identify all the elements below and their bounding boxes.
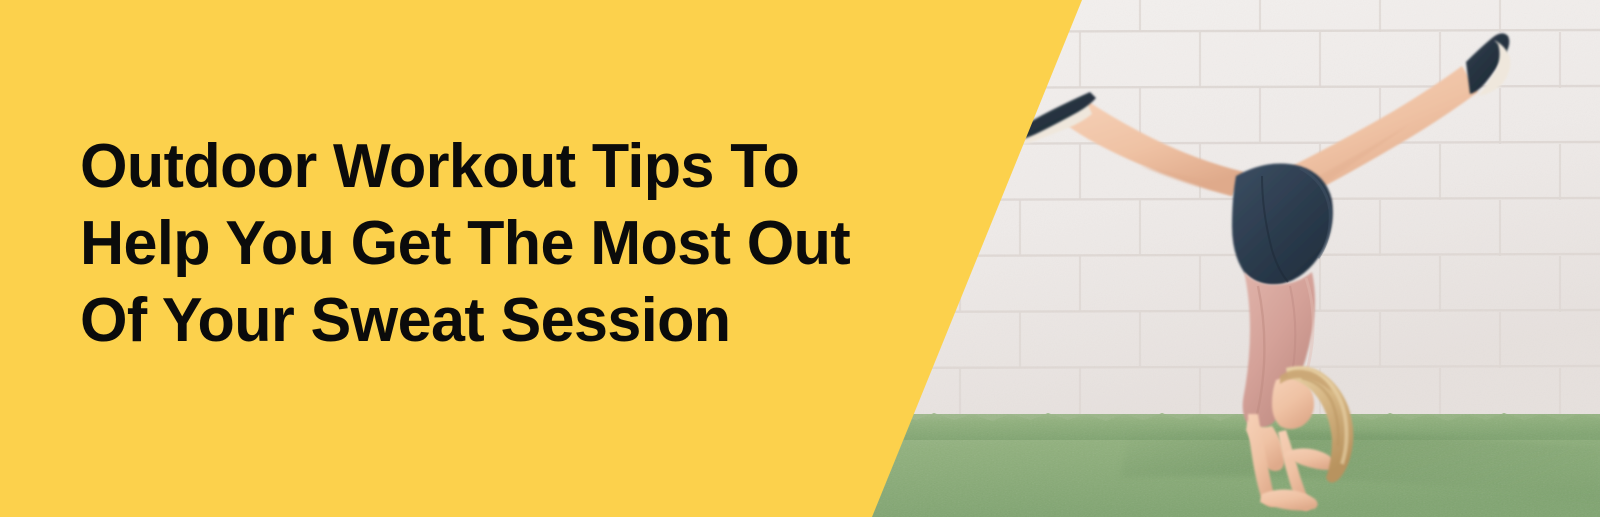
headline-line-1: Outdoor Workout Tips To <box>80 128 947 205</box>
page-title: Outdoor Workout Tips To Help You Get The… <box>80 128 960 359</box>
grass-texture <box>840 414 1600 517</box>
headline-line-3: Of Your Sweat Session <box>80 282 947 359</box>
hero-banner: Outdoor Workout Tips To Help You Get The… <box>0 0 1600 517</box>
headline-line-2: Help You Get The Most Out <box>80 205 947 282</box>
